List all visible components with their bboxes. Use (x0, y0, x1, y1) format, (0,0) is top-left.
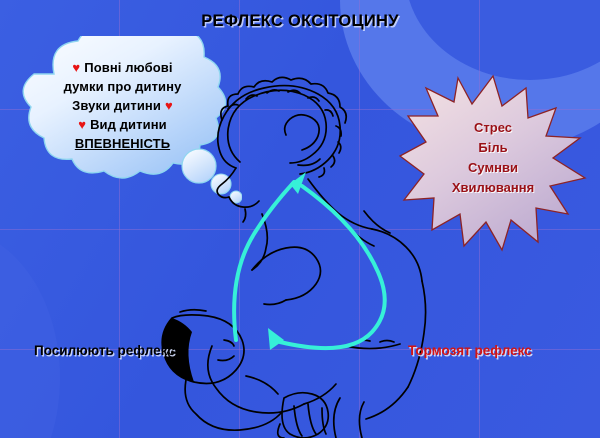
sensory-arrow-up (234, 172, 306, 340)
cloud-line-3-text: Звуки дитини (72, 98, 161, 113)
label-inhibits-reflex: Тормозят рефлекс (408, 343, 532, 358)
background-arc-left (0, 228, 60, 438)
label-enhances-reflex: Посилюють рефлекс (34, 343, 175, 358)
slide-canvas: РЕФЛЕКС ОКСІТОЦИНУ ♥Повні любо (0, 0, 600, 438)
heart-icon-3: ♥ (78, 117, 86, 132)
heart-icon-1: ♥ (72, 60, 80, 75)
oxytocin-arrow-down (268, 186, 385, 350)
mother-breastfeeding-illustration (150, 46, 480, 438)
slide-title: РЕФЛЕКС ОКСІТОЦИНУ (0, 12, 600, 31)
